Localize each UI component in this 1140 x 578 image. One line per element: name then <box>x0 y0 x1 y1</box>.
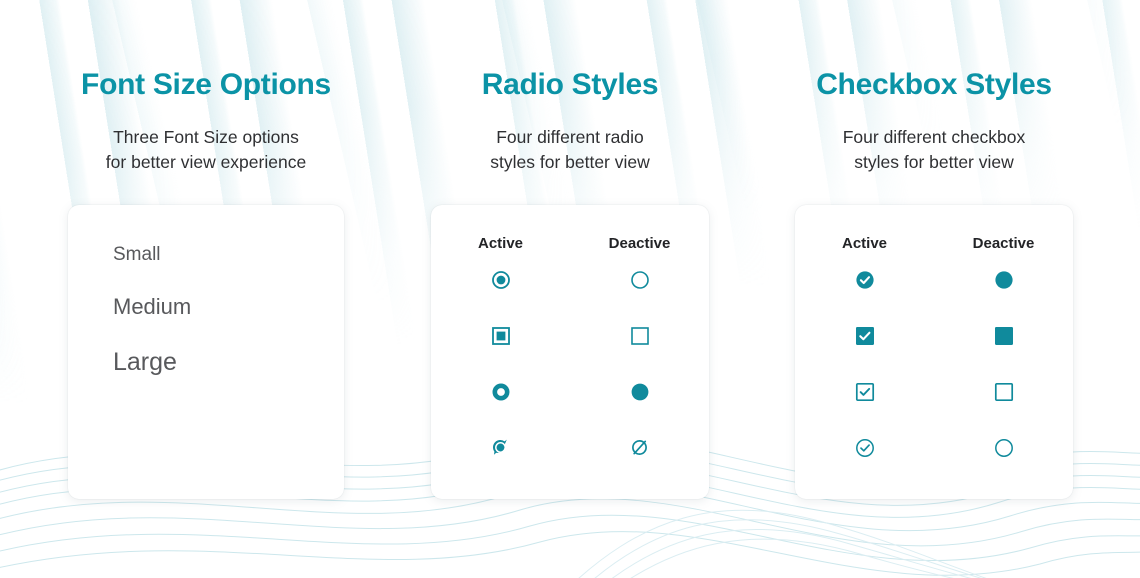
slashed-circle-empty-icon[interactable] <box>629 437 650 458</box>
checkbox-active-cell-2[interactable] <box>795 326 934 346</box>
checkbox-style-row-2 <box>795 308 1073 364</box>
radio-table-header: Active Deactive <box>431 235 709 252</box>
checkbox-style-row-3 <box>795 364 1073 420</box>
slashed-circle-filled-icon[interactable] <box>490 437 511 458</box>
square-check-filled-icon[interactable] <box>855 326 875 346</box>
column-header-active: Active <box>431 235 570 252</box>
page-title-font-size: Font Size Options <box>81 68 331 101</box>
subtitle-line-1: Four different radio <box>496 127 644 147</box>
subtitle-radio-styles: Four different radio styles for better v… <box>490 125 650 175</box>
radio-style-row-2 <box>431 308 709 364</box>
card-checkbox-styles: Active Deactive <box>795 205 1073 499</box>
donut-icon[interactable] <box>491 382 511 402</box>
card-radio-styles: Active Deactive <box>431 205 709 499</box>
subtitle-line-1: Three Font Size options <box>113 127 299 147</box>
checkbox-deactive-cell-1[interactable] <box>934 270 1073 290</box>
radio-active-cell-4[interactable] <box>431 437 570 458</box>
radio-deactive-cell-4[interactable] <box>570 437 709 458</box>
font-size-option-small[interactable]: Small <box>113 245 344 264</box>
radio-style-row-4 <box>431 420 709 476</box>
square-filled-icon[interactable] <box>994 326 1014 346</box>
checkbox-active-cell-1[interactable] <box>795 270 934 290</box>
circle-outline-icon[interactable] <box>994 438 1014 458</box>
square-outline-icon[interactable] <box>994 382 1014 402</box>
page-title-checkbox-styles: Checkbox Styles <box>816 68 1052 101</box>
radio-deactive-cell-1[interactable] <box>570 270 709 290</box>
radio-active-cell-3[interactable] <box>431 382 570 402</box>
subtitle-line-2: styles for better view <box>490 152 650 172</box>
square-ring-filled-icon[interactable] <box>491 326 511 346</box>
page-root: Font Size Options Three Font Size option… <box>0 0 1140 578</box>
column-checkbox-styles: Checkbox Styles Four different checkbox … <box>752 0 1116 578</box>
circle-check-outline-icon[interactable] <box>855 438 875 458</box>
column-header-deactive: Deactive <box>570 235 709 252</box>
card-font-size-options: Small Medium Large <box>68 205 344 499</box>
square-ring-empty-icon[interactable] <box>630 326 650 346</box>
subtitle-line-2: for better view experience <box>106 152 306 172</box>
radio-ring-dot-icon[interactable] <box>491 270 511 290</box>
checkbox-deactive-cell-4[interactable] <box>934 438 1073 458</box>
radio-deactive-cell-2[interactable] <box>570 326 709 346</box>
checkbox-table-header: Active Deactive <box>795 235 1073 252</box>
checkbox-active-cell-3[interactable] <box>795 382 934 402</box>
square-check-outline-icon[interactable] <box>855 382 875 402</box>
checkbox-active-cell-4[interactable] <box>795 438 934 458</box>
column-font-size: Font Size Options Three Font Size option… <box>24 0 388 578</box>
circle-filled-icon[interactable] <box>630 382 650 402</box>
radio-ring-empty-icon[interactable] <box>630 270 650 290</box>
checkbox-style-row-4 <box>795 420 1073 476</box>
subtitle-checkbox-styles: Four different checkbox styles for bette… <box>843 125 1026 175</box>
column-header-active: Active <box>795 235 934 252</box>
font-size-option-large[interactable]: Large <box>113 350 344 375</box>
radio-style-row-1 <box>431 252 709 308</box>
radio-style-row-3 <box>431 364 709 420</box>
radio-deactive-cell-3[interactable] <box>570 382 709 402</box>
checkbox-deactive-cell-3[interactable] <box>934 382 1073 402</box>
font-size-option-medium[interactable]: Medium <box>113 296 344 318</box>
subtitle-font-size: Three Font Size options for better view … <box>106 125 306 175</box>
checkbox-style-row-1 <box>795 252 1073 308</box>
column-header-deactive: Deactive <box>934 235 1073 252</box>
subtitle-line-1: Four different checkbox <box>843 127 1026 147</box>
circle-filled-icon[interactable] <box>994 270 1014 290</box>
subtitle-line-2: styles for better view <box>854 152 1014 172</box>
radio-active-cell-1[interactable] <box>431 270 570 290</box>
circle-check-filled-icon[interactable] <box>855 270 875 290</box>
column-radio-styles: Radio Styles Four different radio styles… <box>388 0 752 578</box>
radio-active-cell-2[interactable] <box>431 326 570 346</box>
checkbox-deactive-cell-2[interactable] <box>934 326 1073 346</box>
page-title-radio-styles: Radio Styles <box>482 68 658 101</box>
